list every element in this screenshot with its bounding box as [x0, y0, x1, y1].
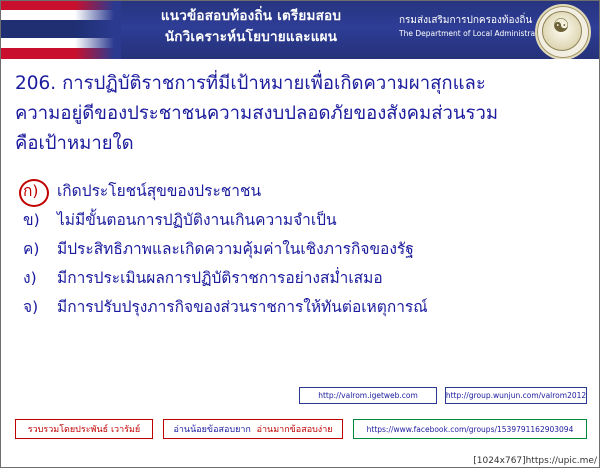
choice-option-d[interactable]: ง)มีการประเมินผลการปฏิบัติราชการอย่างสม่…	[23, 264, 583, 293]
choice-option-c[interactable]: ค)มีประสิทธิภาพและเกิดความคุ้มค่าในเชิงภ…	[23, 235, 583, 264]
header-title-line1: แนวข้อสอบท้องถิ่น เตรียมสอบ	[111, 6, 391, 27]
choice-label-c: ค)	[23, 235, 57, 264]
choice-label-b: ข)	[23, 206, 57, 235]
choice-label-d: ง)	[23, 264, 57, 293]
choice-list: ก)เกิดประโยชน์สุขของประชาชน ข)ไม่มีขั้นต…	[23, 177, 583, 322]
choice-option-e[interactable]: จ)มีการปรับปรุงภารกิจของส่วนราชการให้ทัน…	[23, 293, 583, 322]
government-seal-icon: ☯	[535, 4, 591, 59]
choice-text-b: ไม่มีขั้นตอนการปฏิบัติงานเกินความจำเป็น	[57, 211, 337, 229]
choice-label-a: ก)	[23, 177, 57, 206]
link-facebook-group[interactable]: https://www.facebook.com/groups/15397911…	[353, 419, 587, 439]
question-text: 206. การปฏิบัติราชการที่มีเป้าหมายเพื่อเ…	[15, 69, 587, 159]
advice-suffix: อ่านมากข้อสอบง่าย	[257, 422, 333, 436]
header-title-line2: นักวิเคราะห์นโยบายและแผน	[111, 27, 391, 48]
thai-flag-icon	[1, 1, 121, 59]
header-org-thai: กรมส่งเสริมการปกครองท้องถิ่น	[399, 14, 549, 27]
choice-option-b[interactable]: ข)ไม่มีขั้นตอนการปฏิบัติงานเกินความจำเป็…	[23, 206, 583, 235]
question-line-2: ความอยู่ดีของประชาชนความสงบปลอดภัยของสัง…	[15, 99, 587, 129]
header-organization: กรมส่งเสริมการปกครองท้องถิ่น The Departm…	[399, 14, 549, 40]
image-host-stamp: [1024x767]https://upic.me/	[473, 456, 597, 466]
question-line-1: 206. การปฏิบัติราชการที่มีเป้าหมายเพื่อเ…	[15, 69, 587, 99]
header-title: แนวข้อสอบท้องถิ่น เตรียมสอบ นักวิเคราะห์…	[111, 6, 391, 48]
exam-slide: แนวข้อสอบท้องถิ่น เตรียมสอบ นักวิเคราะห์…	[0, 0, 600, 468]
link-wunjun-group[interactable]: http://group.wunjun.com/valrom2012	[445, 387, 587, 404]
choice-text-a: เกิดประโยชน์สุขของประชาชน	[57, 182, 261, 200]
choice-text-d: มีการประเมินผลการปฏิบัติราชการอย่างสม่ำเ…	[57, 269, 383, 287]
choice-text-e: มีการปรับปรุงภารกิจของส่วนราชการให้ทันต่…	[57, 298, 428, 316]
advice-box: อ่านน้อยข้อสอบยาก อ่านมากข้อสอบง่าย	[163, 419, 343, 439]
author-credit-box: รวบรวมโดยประพันธ์ เวารัมย์	[15, 419, 153, 439]
header-org-english: The Department of Local Administration	[399, 27, 549, 40]
link-igetweb[interactable]: http://valrom.igetweb.com	[299, 387, 437, 404]
choice-option-a[interactable]: ก)เกิดประโยชน์สุขของประชาชน	[23, 177, 583, 206]
choice-text-c: มีประสิทธิภาพและเกิดความคุ้มค่าในเชิงภาร…	[57, 240, 414, 258]
page-header: แนวข้อสอบท้องถิ่น เตรียมสอบ นักวิเคราะห์…	[1, 1, 599, 59]
advice-prefix: อ่านน้อยข้อสอบยาก	[173, 422, 250, 436]
choice-label-e: จ)	[23, 293, 57, 322]
question-line-3: คือเป้าหมายใด	[15, 129, 587, 159]
